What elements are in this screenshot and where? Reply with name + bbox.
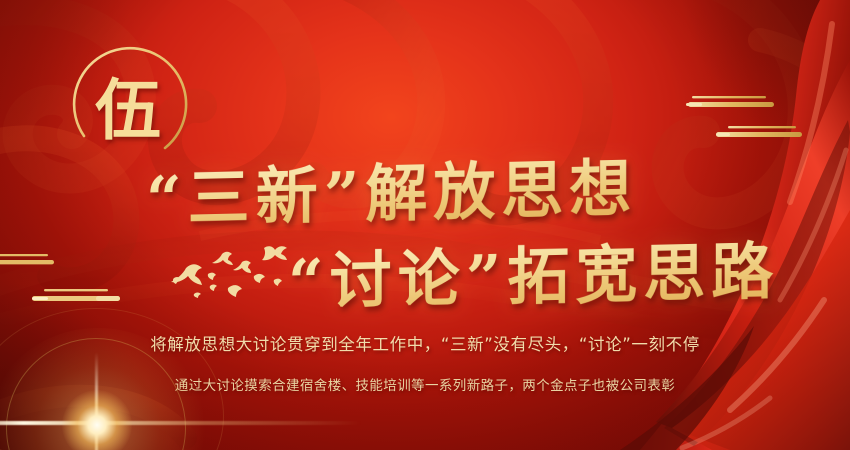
flying-birds-flock-icon (168, 242, 294, 306)
gold-cloud-bar-left-icon (0, 250, 56, 272)
badge-number-text: 伍 (63, 40, 193, 170)
subtitle-line-2: 通过大讨论摸索合建宿舍楼、技能培训等一系列新路子，两个金点子也被公司表彰 (0, 374, 850, 394)
subtitle-line-1: 将解放思想大讨论贯穿到全年工作中，“三新”没有尽头，“讨论”一刻不停 (0, 331, 850, 355)
chapter-number-badge: 伍 (62, 38, 192, 168)
gold-cloud-bar-mid-left-icon (30, 284, 122, 310)
gold-cloud-bar-top-right-icon (686, 82, 802, 158)
poster-canvas: 伍 (0, 0, 850, 450)
